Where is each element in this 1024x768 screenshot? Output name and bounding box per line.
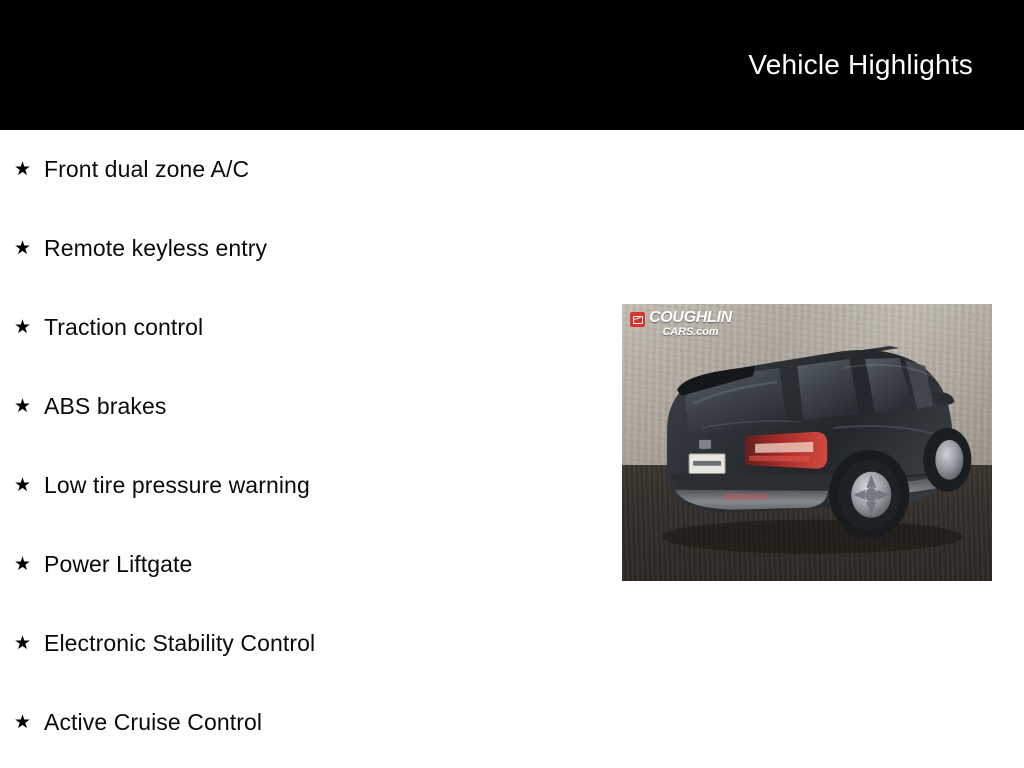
highlight-label: Power Liftgate xyxy=(44,551,192,577)
star-icon: ★ xyxy=(14,288,34,367)
vehicle-photo: COUGHLIN CARS.com xyxy=(622,304,992,581)
highlight-label: Electronic Stability Control xyxy=(44,630,315,656)
watermark-text: COUGHLIN CARS.com xyxy=(649,310,732,338)
page-title: Vehicle Highlights xyxy=(748,49,973,81)
list-item: ★ Active Cruise Control xyxy=(0,683,600,762)
vehicle-highlights-list: ★ Front dual zone A/C ★ Remote keyless e… xyxy=(0,130,600,762)
list-item: ★ Power Liftgate xyxy=(0,525,600,604)
star-icon: ★ xyxy=(14,525,34,604)
header-bar: Vehicle Highlights xyxy=(0,0,1024,130)
suv-illustration xyxy=(637,332,977,565)
star-icon: ★ xyxy=(14,209,34,288)
highlight-label: Remote keyless entry xyxy=(44,235,267,261)
highlight-label: Traction control xyxy=(44,314,203,340)
watermark-primary-text: COUGHLIN xyxy=(649,310,732,326)
star-icon: ★ xyxy=(14,130,34,209)
list-item: ★ Front dual zone A/C xyxy=(0,130,600,209)
watermark-secondary-text: CARS.com xyxy=(649,327,732,338)
list-item: ★ Traction control xyxy=(0,288,600,367)
star-icon: ★ xyxy=(14,367,34,446)
list-item: ★ Low tire pressure warning xyxy=(0,446,600,525)
highlight-label: Low tire pressure warning xyxy=(44,472,310,498)
star-icon: ★ xyxy=(14,604,34,683)
list-item: ★ Remote keyless entry xyxy=(0,209,600,288)
coughlin-logo-icon xyxy=(630,312,645,327)
dealer-watermark: COUGHLIN CARS.com xyxy=(630,310,732,338)
highlight-label: Active Cruise Control xyxy=(44,709,262,735)
highlight-label: ABS brakes xyxy=(44,393,166,419)
star-icon: ★ xyxy=(14,683,34,762)
list-item: ★ Electronic Stability Control xyxy=(0,604,600,683)
star-icon: ★ xyxy=(14,446,34,525)
highlight-label: Front dual zone A/C xyxy=(44,156,249,182)
list-item: ★ ABS brakes xyxy=(0,367,600,446)
